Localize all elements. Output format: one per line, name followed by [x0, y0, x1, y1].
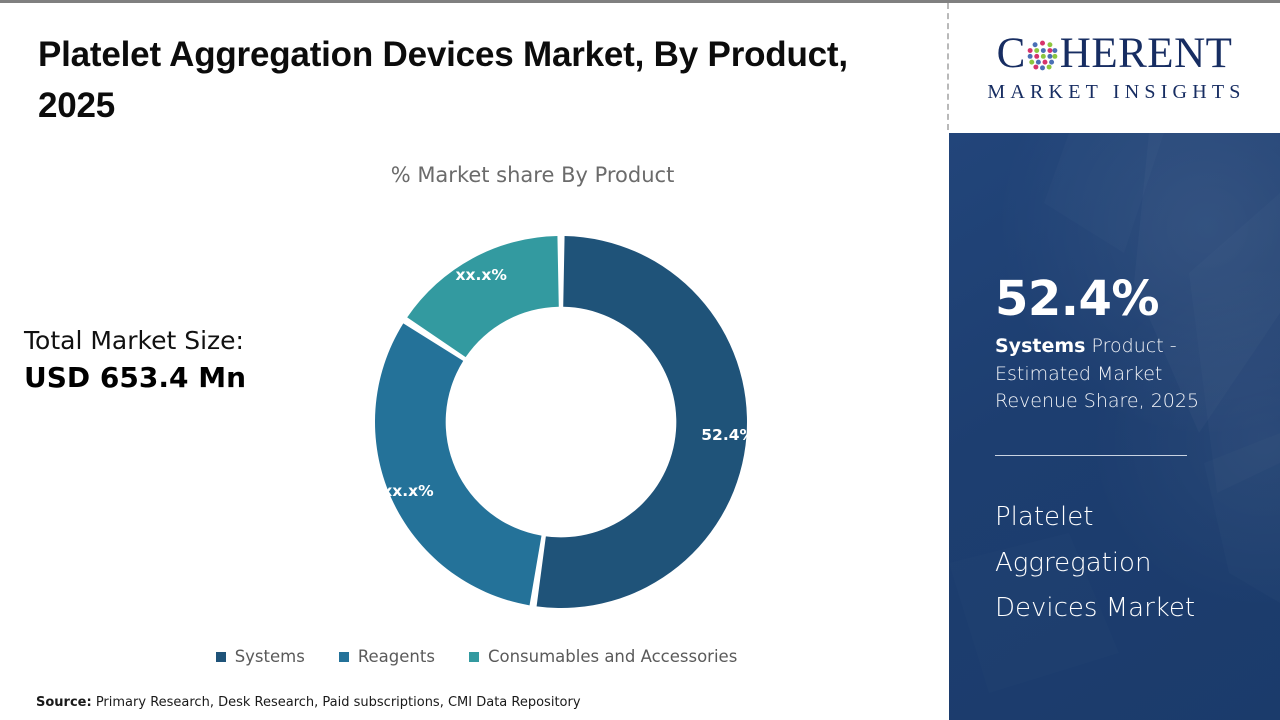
brand-logo[interactable]: C — [949, 3, 1280, 133]
source-note: Source: Primary Research, Desk Research,… — [36, 695, 581, 710]
donut-slice-label: xx.x% — [455, 266, 507, 284]
donut-slice[interactable] — [537, 236, 747, 608]
logo-letter-c: C — [997, 32, 1026, 75]
legend-item-reagents[interactable]: Reagents — [339, 647, 435, 666]
total-market-size-value: USD 653.4 Mn — [24, 361, 324, 396]
side-panel-body: 52.4% Systems Product - Estimated Market… — [949, 133, 1280, 720]
legend-item-label: Systems — [235, 647, 305, 666]
logo-text-herent: HERENT — [1060, 32, 1233, 75]
chart-legend: Systems Reagents Consumables and Accesso… — [0, 647, 947, 666]
chart-subtitle: % Market share By Product — [0, 163, 947, 187]
legend-item-label: Consumables and Accessories — [488, 647, 737, 666]
page-title: Platelet Aggregation Devices Market, By … — [38, 30, 928, 132]
logo-wordmark: C — [997, 32, 1233, 75]
source-text: Primary Research, Desk Research, Paid su… — [92, 695, 581, 710]
panel-market-name: Platelet Aggregation Devices Market — [995, 495, 1255, 632]
legend-item-consumables-and-accessories[interactable]: Consumables and Accessories — [469, 647, 737, 666]
side-panel: C — [949, 3, 1280, 720]
donut-chart: 52.4%xx.x%xx.x% — [370, 231, 752, 613]
total-market-size-block: Total Market Size: USD 653.4 Mn — [24, 326, 324, 395]
total-market-size-label: Total Market Size: — [24, 326, 324, 357]
highlight-stat: 52.4% Systems Product - Estimated Market… — [995, 275, 1245, 416]
stat-description-bold: Systems — [995, 335, 1085, 357]
background-photo-texture — [949, 133, 1280, 720]
globe-dots-icon — [1026, 37, 1059, 70]
chart-area: Platelet Aggregation Devices Market, By … — [0, 3, 947, 720]
legend-swatch-icon — [339, 652, 349, 662]
source-label: Source: — [36, 695, 92, 710]
donut-slice[interactable] — [407, 236, 559, 357]
legend-swatch-icon — [469, 652, 479, 662]
stat-value: 52.4% — [995, 275, 1245, 324]
donut-slice-label: xx.x% — [382, 482, 434, 500]
stat-description: Systems Product - Estimated Market Reven… — [995, 333, 1245, 416]
logo-tagline: MARKET INSIGHTS — [983, 81, 1245, 104]
legend-item-label: Reagents — [358, 647, 435, 666]
legend-item-systems[interactable]: Systems — [216, 647, 305, 666]
donut-slice-label: 52.4% — [701, 426, 752, 444]
legend-swatch-icon — [216, 652, 226, 662]
donut-slice[interactable] — [375, 323, 541, 605]
donut-slices — [375, 236, 747, 608]
panel-horizontal-rule — [995, 455, 1187, 456]
infographic-page: Platelet Aggregation Devices Market, By … — [0, 0, 1280, 720]
donut-chart-svg: 52.4%xx.x%xx.x% — [370, 231, 752, 613]
